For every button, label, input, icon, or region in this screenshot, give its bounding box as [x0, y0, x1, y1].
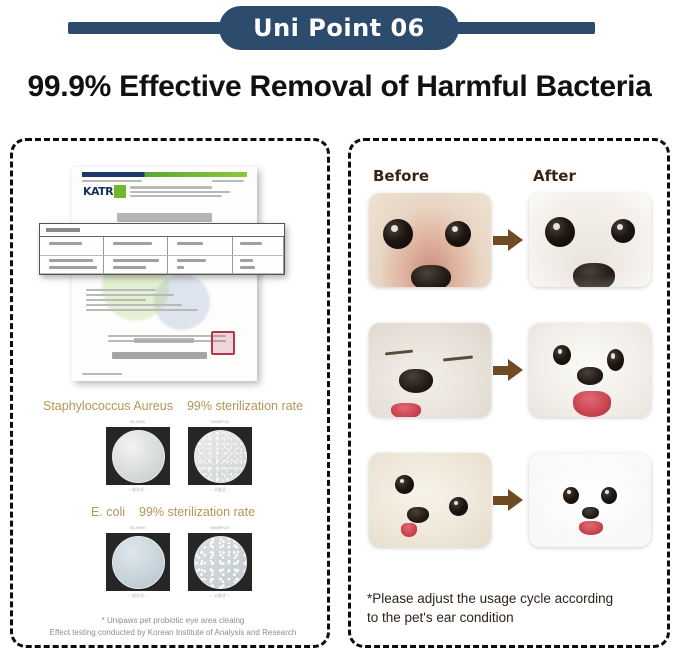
certificate-microtext: [82, 180, 142, 182]
certificate-note-5: [86, 309, 198, 311]
header-banner: Uni Point 06: [0, 0, 679, 58]
lab-footnote-line1: * Unipaws pet probiotic eye area cleaing: [13, 615, 333, 627]
dish-caption-top-left: BLANK: [101, 419, 175, 424]
dog-eye-left: [383, 219, 413, 249]
table-header-cell: [40, 237, 104, 256]
dish-caption-top-right: SAMPLE: [183, 525, 257, 530]
bacteria-name: E. coli: [91, 505, 125, 519]
usage-note-line1: *Please adjust the usage cycle according: [367, 589, 659, 608]
certificate-signature: [112, 352, 207, 359]
dog-tongue: [401, 523, 417, 537]
dog-tongue: [391, 403, 421, 417]
certificate-topbar: [82, 172, 247, 177]
arrow-right-icon: [493, 229, 523, 251]
certificate-footer-code: [82, 373, 122, 375]
table-header-cell: [104, 237, 168, 256]
dish-caption-bottom-left: ‹ 대조군 ›: [101, 593, 175, 599]
table-row: [233, 256, 284, 275]
before-column-header: Before: [373, 167, 429, 185]
sterilization-rate: 99% sterilization rate: [139, 505, 255, 519]
dog-face-after-3: [529, 453, 651, 547]
arrow-right-icon: [493, 359, 523, 381]
comparison-row-3: [351, 453, 673, 563]
after-photo-2: [529, 323, 651, 417]
certificate-image: KATR: [39, 163, 301, 385]
certificate-note-2: [86, 294, 174, 296]
dog-nose: [399, 369, 433, 393]
certificate-org-contact: [130, 195, 222, 197]
petri-dish-sample: [188, 427, 252, 485]
katr-logo-mark: [114, 185, 126, 198]
dish-caption-bottom-left: ‹ 대조군 ›: [101, 487, 175, 493]
certificate-stamp: [211, 331, 235, 355]
certificate-disclaimer-1: [108, 335, 226, 337]
usage-note-line2: to the pet's ear condition: [367, 608, 659, 627]
dish-surface: [194, 536, 247, 589]
dish-caption-top-right: SAMPLE: [183, 419, 257, 424]
table-row: [104, 256, 168, 275]
before-photo-2: [369, 323, 491, 417]
bacteria-name: Staphylococcus Aureus: [43, 399, 173, 413]
certificate-title: [117, 213, 212, 222]
after-photo-1: [529, 193, 651, 287]
result-label-staph: Staphylococcus Aureus99% sterilization r…: [23, 399, 323, 413]
before-photo-1: [369, 193, 491, 287]
lab-results-panel: KATR: [10, 138, 330, 648]
dog-face-before-3: [369, 453, 491, 547]
lab-footnote: * Unipaws pet probiotic eye area cleaing…: [13, 615, 333, 639]
dog-eye-right: [449, 497, 468, 516]
dog-face-before-1: [369, 193, 491, 287]
certificate-note-3: [86, 299, 146, 301]
dog-nose: [577, 367, 603, 385]
dog-eye-right: [445, 221, 471, 247]
petri-dish-row-staph: BLANK SAMPLE ‹ 대조군 › ‹ 시험군 ›: [23, 419, 323, 497]
dish-surface: [194, 430, 247, 483]
certificate-org-name: [130, 186, 212, 189]
dish-surface: [112, 536, 165, 589]
dish-surface: [112, 430, 165, 483]
uni-point-badge-label: Uni Point 06: [253, 14, 425, 42]
table-row: [168, 256, 232, 275]
photo-vignette: [529, 453, 651, 547]
dog-nose: [407, 507, 429, 523]
dish-caption-bottom-right: ‹ 시험군 ›: [183, 593, 257, 599]
dog-eye-left: [553, 345, 571, 365]
uni-point-badge: Uni Point 06: [219, 6, 459, 50]
table-caption: [40, 224, 284, 237]
comparison-row-1: [351, 193, 673, 303]
table-header-cell: [168, 237, 232, 256]
dog-tongue: [573, 391, 611, 417]
dog-face-after-2: [529, 323, 651, 417]
result-label-ecoli: E. coli99% sterilization rate: [23, 505, 323, 519]
certificate-note-1: [86, 289, 156, 291]
dog-face-before-2: [369, 323, 491, 417]
certificate-org-address: [130, 191, 230, 193]
certificate-date: [134, 338, 194, 343]
petri-dish-sample: [188, 533, 252, 591]
after-column-header: After: [533, 167, 576, 185]
dog-eye-left: [395, 475, 414, 494]
page-title: 99.9% Effective Removal of Harmful Bacte…: [0, 70, 679, 104]
table-header-cell: [233, 237, 284, 256]
lab-footnote-line2: Effect testing conducted by Korean Insti…: [13, 627, 333, 639]
dog-eye-squint-right: [443, 355, 473, 361]
dish-caption-bottom-right: ‹ 시험군 ›: [183, 487, 257, 493]
comparison-row-2: [351, 323, 673, 433]
after-photo-3: [529, 453, 651, 547]
certificate-note-4: [86, 304, 182, 306]
dog-eye-squint-left: [385, 350, 413, 356]
table-row: [40, 256, 104, 275]
usage-note: *Please adjust the usage cycle according…: [367, 589, 659, 627]
photo-vignette: [529, 193, 651, 287]
before-photo-3: [369, 453, 491, 547]
petri-dish-control: [106, 533, 170, 591]
test-results-table: [39, 223, 285, 275]
table-caption-text: [46, 228, 80, 232]
dog-nose: [411, 265, 451, 287]
certificate-page-number: [212, 180, 244, 182]
petri-dish-row-ecoli: BLANK SAMPLE ‹ 대조군 › ‹ 시험군 ›: [23, 525, 323, 603]
petri-dish-control: [106, 427, 170, 485]
dog-face-after-1: [529, 193, 651, 287]
arrow-right-icon: [493, 489, 523, 511]
dog-eye-right: [607, 349, 624, 371]
before-after-panel: Before After: [348, 138, 670, 648]
dish-caption-top-left: BLANK: [101, 525, 175, 530]
sterilization-rate: 99% sterilization rate: [187, 399, 303, 413]
